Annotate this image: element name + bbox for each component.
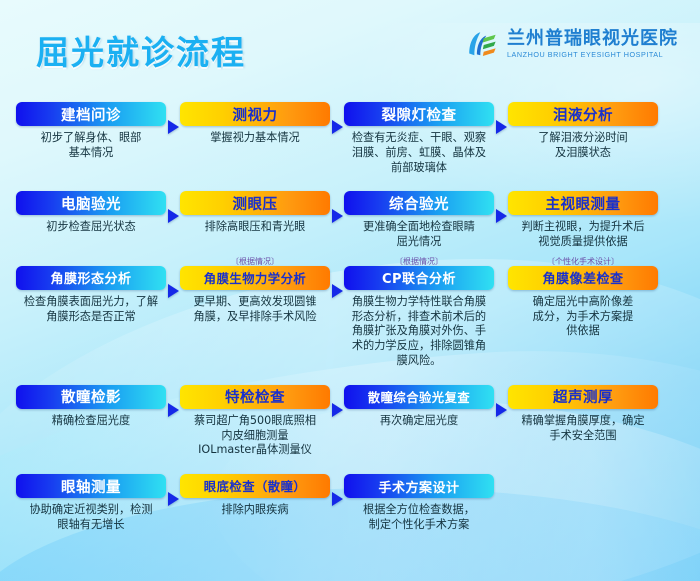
step-description: 更早期、更高效发现圆锥 角膜，及早排除手术风险 [193, 295, 316, 325]
step-connector [330, 254, 344, 298]
process-step[interactable]: 眼轴测量协助确定近视类别，检测 眼轴有无增长 [16, 462, 166, 533]
step-connector [494, 90, 508, 134]
process-step[interactable]: 角膜形态分析检查角膜表面屈光力，了解 角膜形态是否正常 [16, 254, 166, 325]
process-step[interactable]: 手术方案设计根据全方位检查数据， 制定个性化手术方案 [344, 462, 494, 533]
step-label-pill[interactable]: 角膜形态分析 [16, 266, 166, 290]
step-description: 判断主视眼，为提升术后 视觉质量提供依据 [521, 220, 644, 250]
process-step[interactable]: 裂隙灯检查检查有无炎症、干眼、观察 泪膜、前房、虹膜、晶体及 前部玻璃体 [344, 90, 494, 175]
step-connector [494, 254, 508, 298]
step-note: 〔根据情况〕 [231, 254, 279, 266]
arrow-right-icon [332, 284, 343, 298]
arrow-right-icon [168, 403, 179, 417]
step-description: 确定屈光中高阶像差 成分，为手术方案提 供依据 [533, 295, 634, 339]
process-step[interactable]: 散瞳检影精确检查屈光度 [16, 373, 166, 429]
process-row: 电脑验光初步检查屈光状态 测眼压排除高眼压和青光眼 综合验光更准确全面地检查眼睛… [16, 179, 684, 250]
step-description: 精确检查屈光度 [52, 414, 130, 429]
arrow-right-icon [168, 120, 179, 134]
step-description: 更准确全面地检查眼睛 屈光情况 [363, 220, 475, 250]
step-label-pill[interactable]: 综合验光 [344, 191, 494, 215]
step-label-pill[interactable]: 超声测厚 [508, 385, 658, 409]
step-description: 根据全方位检查数据， 制定个性化手术方案 [363, 503, 475, 533]
arrow-right-icon [496, 403, 507, 417]
header: 屈光就诊流程 兰州普瑞眼视光医院 LANZHOU BRIGHT EYESIGHT… [0, 0, 700, 88]
step-label-pill[interactable]: 建档问诊 [16, 102, 166, 126]
process-step[interactable]: 建档问诊初步了解身体、眼部 基本情况 [16, 90, 166, 161]
process-row: 建档问诊初步了解身体、眼部 基本情况 测视力掌握视力基本情况 裂隙灯检查检查有无… [16, 90, 684, 175]
process-row: 角膜形态分析检查角膜表面屈光力，了解 角膜形态是否正常〔根据情况〕角膜生物力学分… [16, 254, 684, 369]
step-note: 〔个性化手术设计〕 [547, 254, 619, 266]
process-row: 散瞳检影精确检查屈光度 特检检查蔡司超广角500眼底照相 内皮细胞测量 IOLm… [16, 373, 684, 458]
step-description: 协助确定近视类别，检测 眼轴有无增长 [29, 503, 152, 533]
step-connector [330, 179, 344, 223]
arrow-right-icon [168, 209, 179, 223]
process-step[interactable]: 综合验光更准确全面地检查眼睛 屈光情况 [344, 179, 494, 250]
step-label-pill[interactable]: 电脑验光 [16, 191, 166, 215]
process-step[interactable]: 眼底检查（散瞳）排除内眼疾病 [180, 462, 330, 518]
process-step[interactable]: 〔根据情况〕角膜生物力学分析更早期、更高效发现圆锥 角膜，及早排除手术风险 [180, 254, 330, 325]
step-label-pill[interactable]: 眼轴测量 [16, 474, 166, 498]
step-connector [330, 90, 344, 134]
process-step[interactable]: 〔个性化手术设计〕角膜像差检查确定屈光中高阶像差 成分，为手术方案提 供依据 [508, 254, 658, 339]
step-description: 精确掌握角膜厚度，确定 手术安全范围 [521, 414, 644, 444]
process-rows: 建档问诊初步了解身体、眼部 基本情况 测视力掌握视力基本情况 裂隙灯检查检查有无… [0, 90, 700, 533]
step-description: 掌握视力基本情况 [210, 131, 300, 146]
step-connector [494, 373, 508, 417]
process-row: 眼轴测量协助确定近视类别，检测 眼轴有无增长 眼底检查（散瞳）排除内眼疾病 手术… [16, 462, 684, 533]
step-description: 初步了解身体、眼部 基本情况 [41, 131, 142, 161]
process-step[interactable]: 〔根据情况〕CP联合分析角膜生物力学特性联合角膜 形态分析，排查术前术后的 角膜… [344, 254, 494, 369]
step-description: 了解泪液分泌时间 及泪膜状态 [538, 131, 628, 161]
step-connector [330, 462, 344, 506]
process-step[interactable]: 特检检查蔡司超广角500眼底照相 内皮细胞测量 IOLmaster晶体测量仪 [180, 373, 330, 458]
step-label-pill[interactable]: 眼底检查（散瞳） [180, 474, 330, 498]
arrow-right-icon [168, 284, 179, 298]
brand-text: 兰州普瑞眼视光医院 LANZHOU BRIGHT EYESIGHT HOSPIT… [507, 30, 678, 60]
arrow-right-icon [332, 120, 343, 134]
step-description: 检查角膜表面屈光力，了解 角膜形态是否正常 [24, 295, 158, 325]
process-step[interactable]: 超声测厚精确掌握角膜厚度，确定 手术安全范围 [508, 373, 658, 444]
step-label-pill[interactable]: 特检检查 [180, 385, 330, 409]
step-label-pill[interactable]: 散瞳综合验光复查 [344, 385, 494, 409]
step-label-pill[interactable]: 裂隙灯检查 [344, 102, 494, 126]
step-label-pill[interactable]: 测眼压 [180, 191, 330, 215]
arrow-right-icon [496, 209, 507, 223]
eye-leaf-logo-icon [465, 28, 499, 62]
step-label-pill[interactable]: 散瞳检影 [16, 385, 166, 409]
brand-name-en: LANZHOU BRIGHT EYESIGHT HOSPITAL [507, 50, 678, 60]
flowchart-poster: 屈光就诊流程 兰州普瑞眼视光医院 LANZHOU BRIGHT EYESIGHT… [0, 0, 700, 581]
step-connector [166, 90, 180, 134]
brand-name-cn: 兰州普瑞眼视光医院 [507, 30, 678, 49]
arrow-right-icon [496, 120, 507, 134]
arrow-right-icon [168, 492, 179, 506]
process-step[interactable]: 测眼压排除高眼压和青光眼 [180, 179, 330, 235]
step-note: 〔根据情况〕 [395, 254, 443, 266]
process-step[interactable]: 测视力掌握视力基本情况 [180, 90, 330, 146]
step-connector [166, 462, 180, 506]
step-description: 初步检查屈光状态 [46, 220, 136, 235]
process-step[interactable]: 电脑验光初步检查屈光状态 [16, 179, 166, 235]
process-step[interactable]: 散瞳综合验光复查再次确定屈光度 [344, 373, 494, 429]
step-description: 再次确定屈光度 [380, 414, 458, 429]
step-description: 角膜生物力学特性联合角膜 形态分析，排查术前术后的 角膜扩张及角膜对外伤、手 术… [352, 295, 486, 369]
step-label-pill[interactable]: 主视眼测量 [508, 191, 658, 215]
step-label-pill[interactable]: CP联合分析 [344, 266, 494, 290]
step-label-pill[interactable]: 泪液分析 [508, 102, 658, 126]
step-connector [166, 179, 180, 223]
arrow-right-icon [332, 209, 343, 223]
step-description: 蔡司超广角500眼底照相 内皮细胞测量 IOLmaster晶体测量仪 [194, 414, 316, 458]
step-description: 排除高眼压和青光眼 [205, 220, 306, 235]
step-connector [166, 254, 180, 298]
hospital-brand: 兰州普瑞眼视光医院 LANZHOU BRIGHT EYESIGHT HOSPIT… [465, 28, 678, 62]
process-step[interactable]: 泪液分析了解泪液分泌时间 及泪膜状态 [508, 90, 658, 161]
step-connector [494, 179, 508, 223]
page-title: 屈光就诊流程 [36, 26, 246, 74]
step-label-pill[interactable]: 测视力 [180, 102, 330, 126]
step-label-pill[interactable]: 角膜生物力学分析 [180, 266, 330, 290]
step-description: 排除内眼疾病 [221, 503, 288, 518]
step-label-pill[interactable]: 角膜像差检查 [508, 266, 658, 290]
step-connector [166, 373, 180, 417]
step-connector [330, 373, 344, 417]
arrow-right-icon [332, 403, 343, 417]
step-label-pill[interactable]: 手术方案设计 [344, 474, 494, 498]
process-step[interactable]: 主视眼测量判断主视眼，为提升术后 视觉质量提供依据 [508, 179, 658, 250]
arrow-right-icon [332, 492, 343, 506]
step-description: 检查有无炎症、干眼、观察 泪膜、前房、虹膜、晶体及 前部玻璃体 [352, 131, 486, 175]
